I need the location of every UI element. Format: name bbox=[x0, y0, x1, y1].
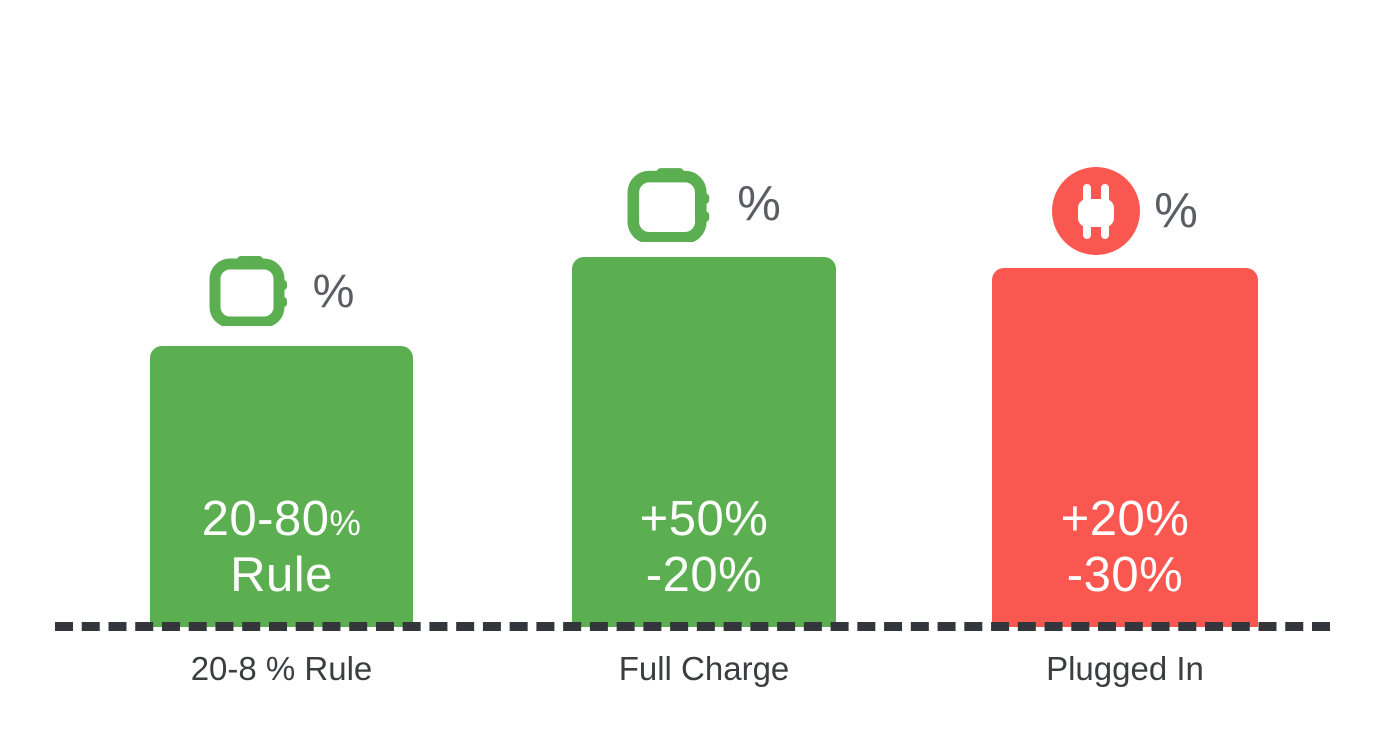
bar-2-value: +50% -20% bbox=[572, 492, 836, 604]
baseline-dashed-axis bbox=[55, 622, 1330, 631]
bar-1-value-line-1: 20-80% bbox=[150, 492, 413, 548]
bar-3-icon-row: % bbox=[992, 167, 1258, 255]
axis-label-1: 20-8 % Rule bbox=[110, 650, 453, 688]
bar-2-percent-glyph: % bbox=[737, 180, 781, 229]
bar-2-icon-row: % bbox=[572, 166, 836, 242]
battery-icon bbox=[627, 166, 724, 242]
battery-icon bbox=[209, 254, 301, 326]
axis-label-2: Full Charge bbox=[532, 650, 876, 688]
bar-3-value-line-2: -30% bbox=[992, 548, 1258, 604]
bar-1-value-line-2: Rule bbox=[150, 548, 413, 604]
plug-circle-icon bbox=[1052, 167, 1140, 255]
bar-3-percent-glyph: % bbox=[1154, 187, 1198, 236]
bar-group-1: % 20-80% Rule 20-8 % Rule bbox=[150, 0, 413, 752]
chart-canvas: % 20-80% Rule 20-8 % Rule % +50% - bbox=[0, 0, 1392, 752]
bar-2-value-line-1: +50% bbox=[572, 492, 836, 548]
bar-1-value-suffix: % bbox=[329, 504, 361, 543]
bar-3-value-line-1: +20% bbox=[992, 492, 1258, 548]
bar-1-value: 20-80% Rule bbox=[150, 492, 413, 604]
bar-group-2: % +50% -20% Full Charge bbox=[572, 0, 836, 752]
bar-2-value-line-2: -20% bbox=[572, 548, 836, 604]
bar-1-percent-glyph: % bbox=[313, 267, 355, 314]
axis-label-3: Plugged In bbox=[952, 650, 1298, 688]
bar-1-value-line-1-text: 20-80 bbox=[202, 492, 330, 546]
bar-3-value: +20% -30% bbox=[992, 492, 1258, 604]
bar-group-3: % +20% -30% Plugged In bbox=[992, 0, 1258, 752]
bar-1-icon-row: % bbox=[150, 254, 413, 326]
